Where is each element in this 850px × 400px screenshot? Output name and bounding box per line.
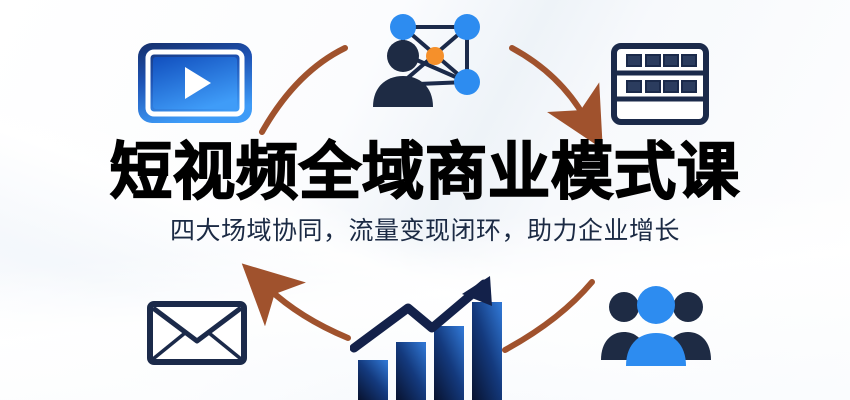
chart-bar xyxy=(358,360,388,400)
arc-arrow-bottom-left xyxy=(268,288,348,338)
server-rack-icon[interactable] xyxy=(610,42,710,126)
promo-banner: 短视频全域商业模式课 四大场域协同，流量变现闭环，助力企业增长 xyxy=(0,0,850,400)
network-node xyxy=(454,69,480,95)
envelope-icon[interactable] xyxy=(145,296,249,370)
growth-bar-chart-glyph xyxy=(350,272,510,400)
chart-bar xyxy=(396,342,426,400)
video-play-icon[interactable] xyxy=(135,40,255,126)
envelope-icon-glyph xyxy=(145,296,249,370)
network-hub-node xyxy=(426,47,444,65)
network-node xyxy=(454,14,480,40)
arc-arrow-top-right xyxy=(512,48,585,118)
arc-arrow-bottom-right xyxy=(505,282,592,350)
user-group-icon[interactable] xyxy=(598,284,714,370)
growth-bar-chart-icon[interactable] xyxy=(350,272,510,400)
page-subtitle: 四大场域协同，流量变现闭环，助力企业增长 xyxy=(0,216,850,246)
user-group-icon-glyph xyxy=(598,284,714,370)
page-title: 短视频全域商业模式课 xyxy=(0,140,850,206)
chart-bar xyxy=(472,302,502,400)
network-node xyxy=(390,14,416,40)
network-person-icon-glyph xyxy=(363,4,493,118)
network-person-icon[interactable] xyxy=(363,4,493,118)
video-play-icon-glyph xyxy=(135,40,255,126)
arc-arrow-top-left xyxy=(262,48,345,132)
server-rack-icon-glyph xyxy=(610,42,710,126)
title-block: 短视频全域商业模式课 四大场域协同，流量变现闭环，助力企业增长 xyxy=(0,140,850,246)
chart-bar xyxy=(434,326,464,400)
